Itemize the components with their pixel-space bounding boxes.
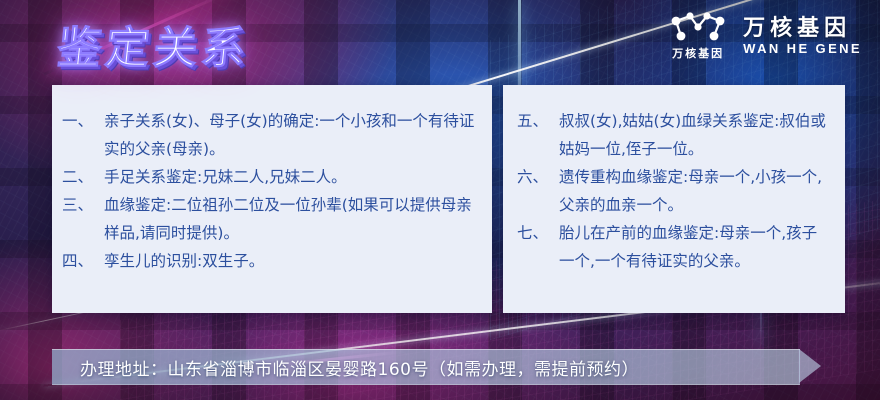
list-item-number: 一、 (62, 107, 104, 135)
list-item-number: 六、 (517, 163, 559, 191)
list-item: 二、 手足关系鉴定:兄妹二人,兄妹二人。 (62, 163, 478, 191)
list-item-text: 手足关系鉴定:兄妹二人,兄妹二人。 (104, 163, 478, 191)
relationship-list-left: 一、 亲子关系(女)、母子(女)的确定:一个小孩和一个有待证实的父亲(母亲)。 … (52, 85, 492, 275)
page-title: 鉴定关系 (55, 12, 254, 76)
list-item-number: 四、 (62, 247, 104, 275)
brand-logo: 万核基因 万核基因 WAN HE GENE (667, 12, 862, 61)
list-item-number: 二、 (62, 163, 104, 191)
list-item-number: 三、 (62, 191, 104, 219)
list-item-text: 叔叔(女),姑姑(女)血绿关系鉴定:叔伯或姑妈一位,侄子一位。 (559, 107, 829, 163)
molecule-network-icon (667, 12, 729, 42)
logo-mark-text: 万核基因 (672, 45, 724, 61)
list-item-text: 血缘鉴定:二位祖孙二位及一位孙辈(如果可以提供母亲样品,请同时提供)。 (104, 191, 478, 247)
brand-name-en: WAN HE GENE (743, 42, 862, 55)
list-item-text: 胎儿在产前的血缘鉴定:母亲一个,孩子一个,一个有待证实的父亲。 (559, 219, 829, 275)
address-bar: 办理地址：山东省淄博市临淄区晏婴路160号（如需办理，需提前预约） (52, 349, 800, 385)
list-item-text: 孪生儿的识别:双生子。 (104, 247, 478, 275)
brand-name-cn: 万核基因 (743, 18, 851, 40)
list-item-text: 遗传重构血缘鉴定:母亲一个,小孩一个,父亲的血亲一个。 (559, 163, 829, 219)
list-item: 三、 血缘鉴定:二位祖孙二位及一位孙辈(如果可以提供母亲样品,请同时提供)。 (62, 191, 478, 247)
list-item: 一、 亲子关系(女)、母子(女)的确定:一个小孩和一个有待证实的父亲(母亲)。 (62, 107, 478, 163)
content-panel-right: 五、 叔叔(女),姑姑(女)血绿关系鉴定:叔伯或姑妈一位,侄子一位。 六、 遗传… (503, 85, 845, 313)
list-item: 四、 孪生儿的识别:双生子。 (62, 247, 478, 275)
list-item-number: 七、 (517, 219, 559, 247)
banner-stage: 鉴定关系 (0, 0, 880, 400)
address-bar-arrow-tip (799, 349, 821, 383)
list-item: 五、 叔叔(女),姑姑(女)血绿关系鉴定:叔伯或姑妈一位,侄子一位。 (517, 107, 829, 163)
list-item-text: 亲子关系(女)、母子(女)的确定:一个小孩和一个有待证实的父亲(母亲)。 (104, 107, 478, 163)
list-item-number: 五、 (517, 107, 559, 135)
list-item: 七、 胎儿在产前的血缘鉴定:母亲一个,孩子一个,一个有待证实的父亲。 (517, 219, 829, 275)
brand-wordmark: 万核基因 WAN HE GENE (743, 18, 862, 55)
list-item: 六、 遗传重构血缘鉴定:母亲一个,小孩一个,父亲的血亲一个。 (517, 163, 829, 219)
relationship-list-right: 五、 叔叔(女),姑姑(女)血绿关系鉴定:叔伯或姑妈一位,侄子一位。 六、 遗传… (503, 85, 845, 275)
logo-mark: 万核基因 (667, 12, 729, 61)
address-text: 办理地址：山东省淄博市临淄区晏婴路160号（如需办理，需提前预约） (52, 355, 639, 380)
content-panel-left: 一、 亲子关系(女)、母子(女)的确定:一个小孩和一个有待证实的父亲(母亲)。 … (52, 85, 492, 313)
